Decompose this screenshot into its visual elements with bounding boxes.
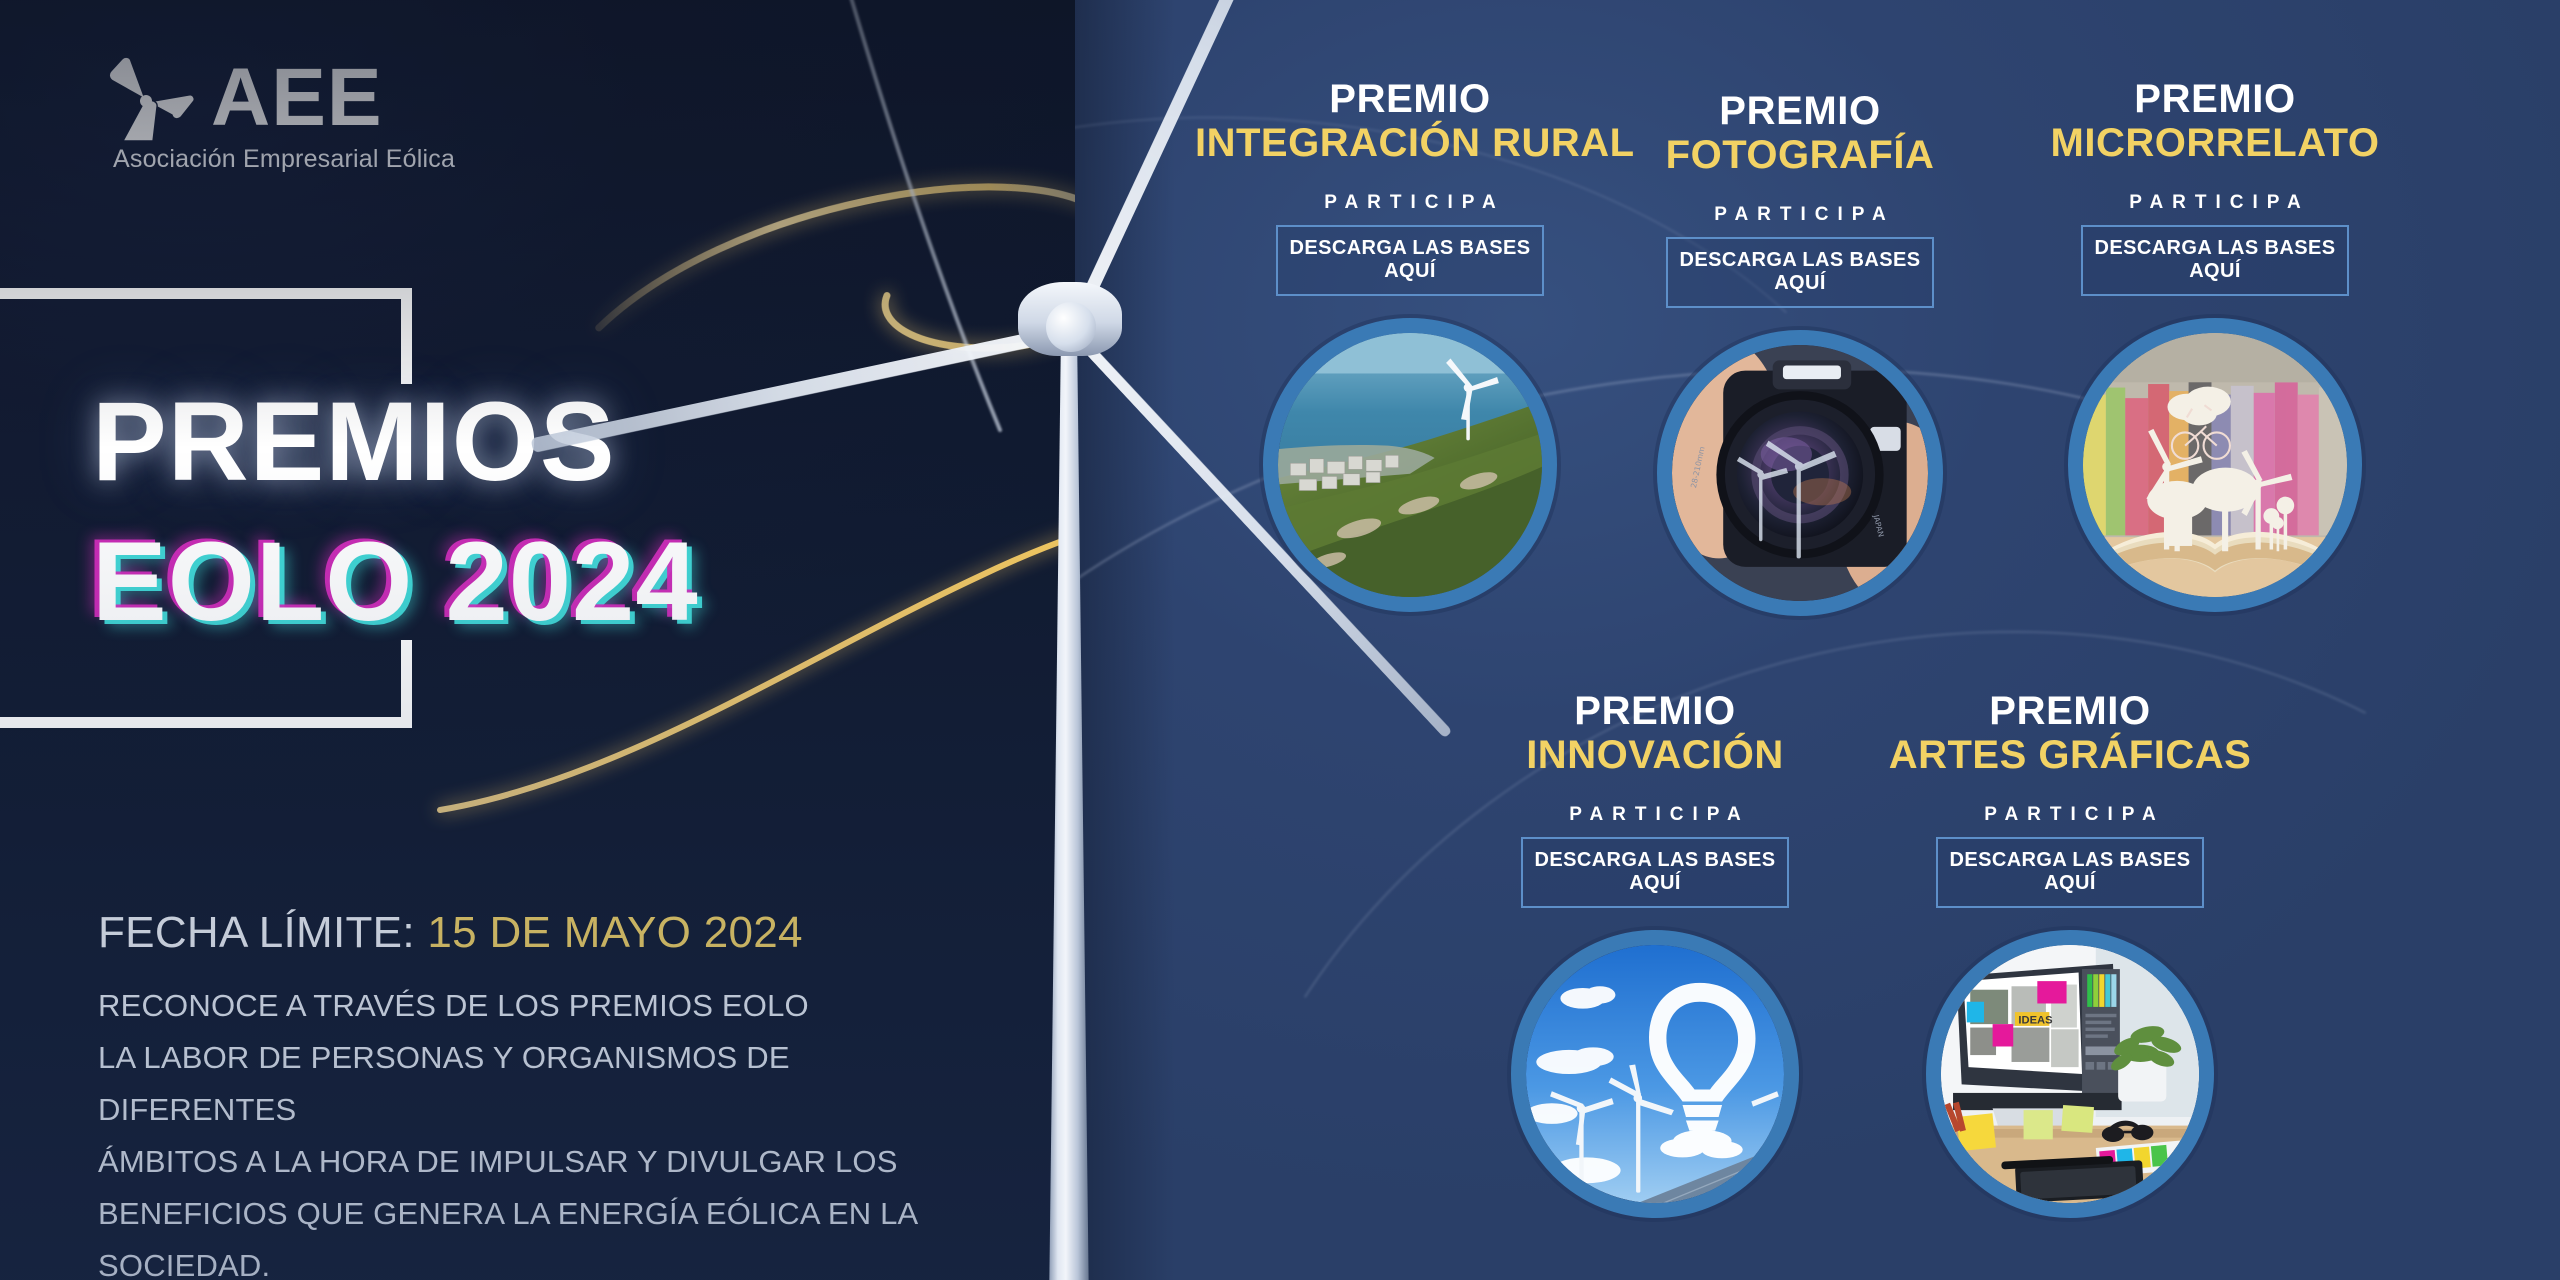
award-card-innovacion[interactable]: PREMIO INNOVACIÓN PARTICIPA DESCARGA LAS… [1440, 690, 1870, 1218]
aee-logo[interactable]: AEE Asociación Empresarial Eólica [105, 55, 455, 174]
title-bracket-frame [0, 288, 430, 728]
award-name: MICRORRELATO [2000, 121, 2430, 166]
award-card-integracion-rural[interactable]: PREMIO INTEGRACIÓN RURAL PARTICIPA DESCA… [1195, 78, 1625, 612]
award-premio-label: PREMIO [1195, 78, 1625, 121]
gold-light-streak-upper [620, 150, 1075, 480]
award-participa-label: PARTICIPA [1195, 192, 1625, 214]
description-line: ÁMBITOS A LA HORA DE IMPULSAR Y DIVULGAR… [98, 1136, 978, 1188]
download-bases-button[interactable]: DESCARGA LAS BASES AQUÍ [1521, 837, 1789, 908]
premios-eolo-banner: AEE Asociación Empresarial Eólica PREMIO… [0, 0, 2560, 1280]
page-title-premios: PREMIOS [92, 386, 616, 498]
deadline-date: 15 DE MAYO 2024 [427, 908, 802, 957]
camera-lens-photo: 28-210mm JAPAN [1672, 345, 1928, 601]
award-name: FOTOGRAFÍA [1585, 133, 2015, 178]
deadline-label: FECHA LÍMITE: [98, 908, 415, 957]
award-premio-label: PREMIO [1585, 90, 2015, 133]
aee-logo-text: AEE [211, 60, 383, 135]
award-participa-label: PARTICIPA [1585, 204, 2015, 226]
aee-turbine-logo-icon [105, 55, 197, 141]
award-participa-label: PARTICIPA [1440, 804, 1870, 826]
aee-tagline: Asociación Empresarial Eólica [113, 145, 455, 174]
description-line: LA LABOR DE PERSONAS Y ORGANISMOS DE DIF… [98, 1032, 978, 1136]
hero-title-block: PREMIOS EOLO 2024 [0, 288, 430, 728]
award-thumbnail-fotografia[interactable]: 28-210mm JAPAN [1657, 330, 1943, 616]
svg-text:IDEAS: IDEAS [2018, 1014, 2053, 1026]
description-line: SOCIEDAD. [98, 1240, 978, 1280]
award-card-artes-graficas[interactable]: PREMIO ARTES GRÁFICAS PARTICIPA DESCARGA… [1855, 690, 2285, 1218]
deadline-line: FECHA LÍMITE: 15 DE MAYO 2024 [98, 908, 803, 958]
open-book-papercraft-photo [2083, 333, 2347, 597]
hero-description: RECONOCE A TRAVÉS DE LOS PREMIOS EOLO LA… [98, 980, 978, 1280]
white-light-streak-icon [700, 0, 1075, 520]
award-name: ARTES GRÁFICAS [1855, 733, 2285, 778]
cloud-lightbulb-sky-photo [1526, 945, 1784, 1203]
download-bases-button[interactable]: DESCARGA LAS BASES AQUÍ [1276, 225, 1544, 296]
award-participa-label: PARTICIPA [1855, 804, 2285, 826]
description-line: RECONOCE A TRAVÉS DE LOS PREMIOS EOLO [98, 980, 978, 1032]
award-card-microrrelato[interactable]: PREMIO MICRORRELATO PARTICIPA DESCARGA L… [2000, 78, 2430, 612]
award-premio-label: PREMIO [1855, 690, 2285, 733]
coastal-village-wind-turbine-photo [1278, 333, 1542, 597]
award-thumbnail-integracion-rural[interactable] [1263, 318, 1557, 612]
award-thumbnail-microrrelato[interactable] [2068, 318, 2362, 612]
description-line: BENEFICIOS QUE GENERA LA ENERGÍA EÓLICA … [98, 1188, 978, 1240]
award-card-fotografia[interactable]: PREMIO FOTOGRAFÍA PARTICIPA DESCARGA LAS… [1585, 90, 2015, 616]
download-bases-button[interactable]: DESCARGA LAS BASES AQUÍ [1666, 237, 1934, 308]
download-bases-button[interactable]: DESCARGA LAS BASES AQUÍ [1936, 837, 2204, 908]
award-premio-label: PREMIO [1440, 690, 1870, 733]
download-bases-button[interactable]: DESCARGA LAS BASES AQUÍ [2081, 225, 2349, 296]
left-hero-panel: AEE Asociación Empresarial Eólica PREMIO… [0, 0, 1075, 1280]
award-name: INNOVACIÓN [1440, 733, 1870, 778]
page-title-eolo-2024: EOLO 2024 [92, 526, 699, 638]
award-thumbnail-artes-graficas[interactable]: IDEAS [1926, 930, 2214, 1218]
award-name: INTEGRACIÓN RURAL [1195, 121, 1625, 166]
award-premio-label: PREMIO [2000, 78, 2430, 121]
graphic-design-desk-photo: IDEAS [1941, 945, 2199, 1203]
award-participa-label: PARTICIPA [2000, 192, 2430, 214]
award-thumbnail-innovacion[interactable] [1511, 930, 1799, 1218]
